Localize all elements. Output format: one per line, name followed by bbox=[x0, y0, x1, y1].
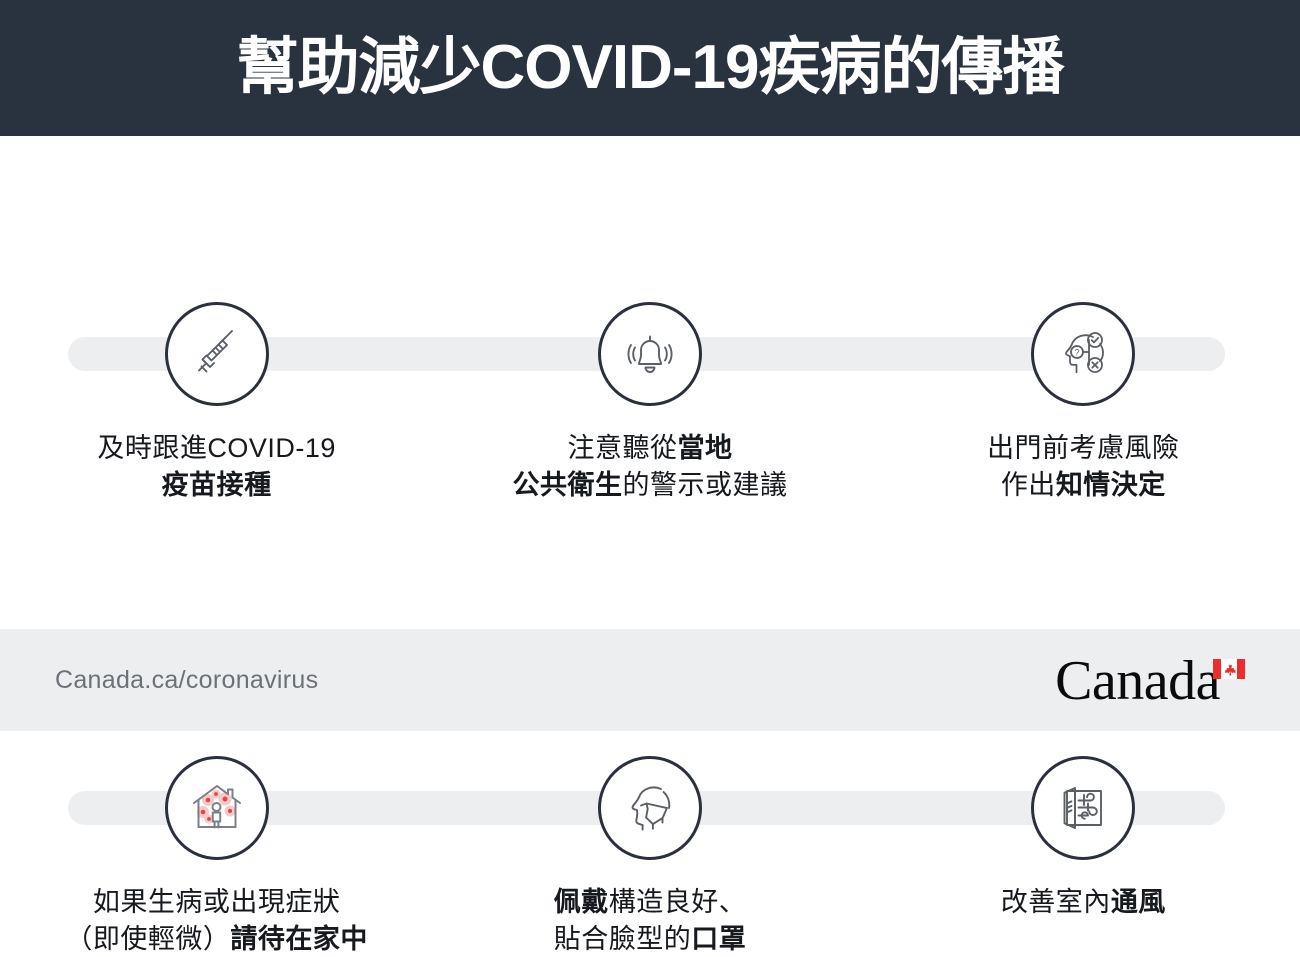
tips-content: 及時跟進COVID-19疫苗接種 bbox=[0, 136, 1300, 627]
tip-caption-public-health-advice: 注意聽從當地公共衛生的警示或建議 bbox=[512, 430, 787, 503]
caption-line: 疫苗接種 bbox=[97, 467, 336, 504]
tip-caption-wear-mask: 佩戴構造良好、貼合臉型的口罩 bbox=[554, 884, 747, 957]
header-banner: 幫助減少COVID-19疾病的傳播 bbox=[0, 0, 1300, 136]
footer-bar: Canada.ca/coronavirus Canada bbox=[0, 627, 1300, 731]
head-decision-icon: ? bbox=[1050, 321, 1116, 387]
caption-line: 及時跟進COVID-19 bbox=[97, 430, 336, 467]
tip-card-vaccination: 及時跟進COVID-19疫苗接種 bbox=[0, 302, 433, 503]
wordmark-text: Canada bbox=[1055, 655, 1220, 708]
canada-flag-icon bbox=[1213, 659, 1245, 679]
caption-line: 注意聽從當地 bbox=[512, 430, 787, 467]
icon-circle-stay-home bbox=[165, 756, 269, 860]
tip-caption-vaccination: 及時跟進COVID-19疫苗接種 bbox=[97, 430, 336, 503]
house-symptoms-icon bbox=[183, 774, 251, 842]
tip-card-wear-mask: 佩戴構造良好、貼合臉型的口罩 bbox=[433, 756, 866, 957]
infographic-poster: 幫助減少COVID-19疾病的傳播 bbox=[0, 0, 1300, 731]
caption-line: 公共衛生的警示或建議 bbox=[512, 467, 787, 504]
canada-wordmark: Canada bbox=[1055, 651, 1245, 708]
icon-circle-vaccination bbox=[165, 302, 269, 406]
masked-head-icon bbox=[617, 775, 683, 841]
tip-card-stay-home: 如果生病或出現症狀（即使輕微）請待在家中 bbox=[0, 756, 433, 957]
tips-row-1: 及時跟進COVID-19疫苗接種 bbox=[0, 136, 1300, 362]
caption-line: 改善室內通風 bbox=[1001, 884, 1166, 921]
caption-line: 出門前考慮風險 bbox=[987, 430, 1180, 467]
tip-caption-informed-decision: 出門前考慮風險作出知情決定 bbox=[987, 430, 1180, 503]
syringe-icon bbox=[185, 322, 249, 386]
tip-card-informed-decision: ? 出門前考慮風險作出知情決定 bbox=[867, 302, 1300, 503]
caption-line: 如果生病或出現症狀 bbox=[65, 884, 368, 921]
tip-card-public-health-advice: 注意聽從當地公共衛生的警示或建議 bbox=[433, 302, 866, 503]
caption-line: 佩戴構造良好、 bbox=[554, 884, 747, 921]
footer-url[interactable]: Canada.ca/coronavirus bbox=[55, 666, 318, 695]
caption-line: 作出知情決定 bbox=[987, 467, 1180, 504]
tip-card-ventilation: 改善室內通風 bbox=[867, 756, 1300, 957]
icon-circle-wear-mask bbox=[598, 756, 702, 860]
icon-circle-public-health-advice bbox=[598, 302, 702, 406]
page-title: 幫助減少COVID-19疾病的傳播 bbox=[237, 37, 1064, 99]
icon-circle-informed-decision: ? bbox=[1031, 302, 1135, 406]
tip-caption-ventilation: 改善室內通風 bbox=[1001, 884, 1166, 921]
tips-cards-row-1: 及時跟進COVID-19疫苗接種 bbox=[0, 302, 1300, 503]
caption-line: 貼合臉型的口罩 bbox=[554, 921, 747, 957]
tip-caption-stay-home: 如果生病或出現症狀（即使輕微）請待在家中 bbox=[65, 884, 368, 957]
icon-circle-ventilation bbox=[1031, 756, 1135, 860]
tips-cards-row-2: 如果生病或出現症狀（即使輕微）請待在家中 bbox=[0, 756, 1300, 957]
ringing-bell-icon bbox=[618, 322, 682, 386]
svg-text:?: ? bbox=[1075, 348, 1080, 358]
caption-line: （即使輕微）請待在家中 bbox=[65, 921, 368, 957]
open-window-airflow-icon bbox=[1051, 776, 1115, 840]
